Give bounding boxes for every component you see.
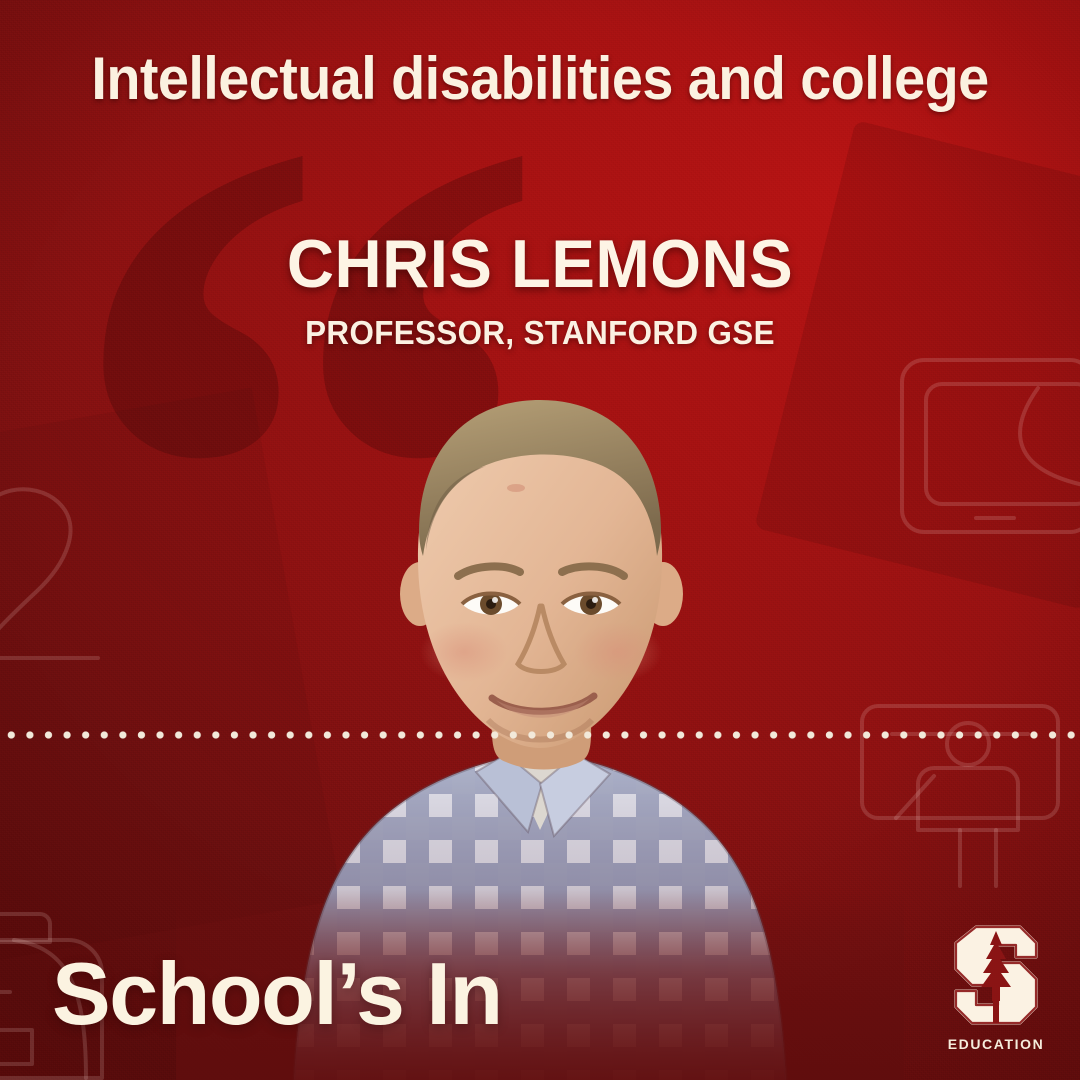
show-title: School’s In — [52, 950, 502, 1038]
episode-title: Intellectual disabilities and college — [38, 44, 1042, 113]
guest-block: CHRIS LEMONS PROFESSOR, STANFORD GSE — [0, 230, 1080, 352]
dotted-divider — [0, 730, 1080, 740]
stanford-block-s-tree-logo — [950, 923, 1042, 1027]
podcast-cover-canvas: “ — [0, 0, 1080, 1080]
stanford-sub-label: EDUCATION — [936, 1036, 1056, 1052]
stanford-education-lockup: EDUCATION — [936, 923, 1056, 1052]
guest-name: CHRIS LEMONS — [22, 230, 1059, 298]
guest-role: PROFESSOR, STANFORD GSE — [27, 314, 1053, 352]
